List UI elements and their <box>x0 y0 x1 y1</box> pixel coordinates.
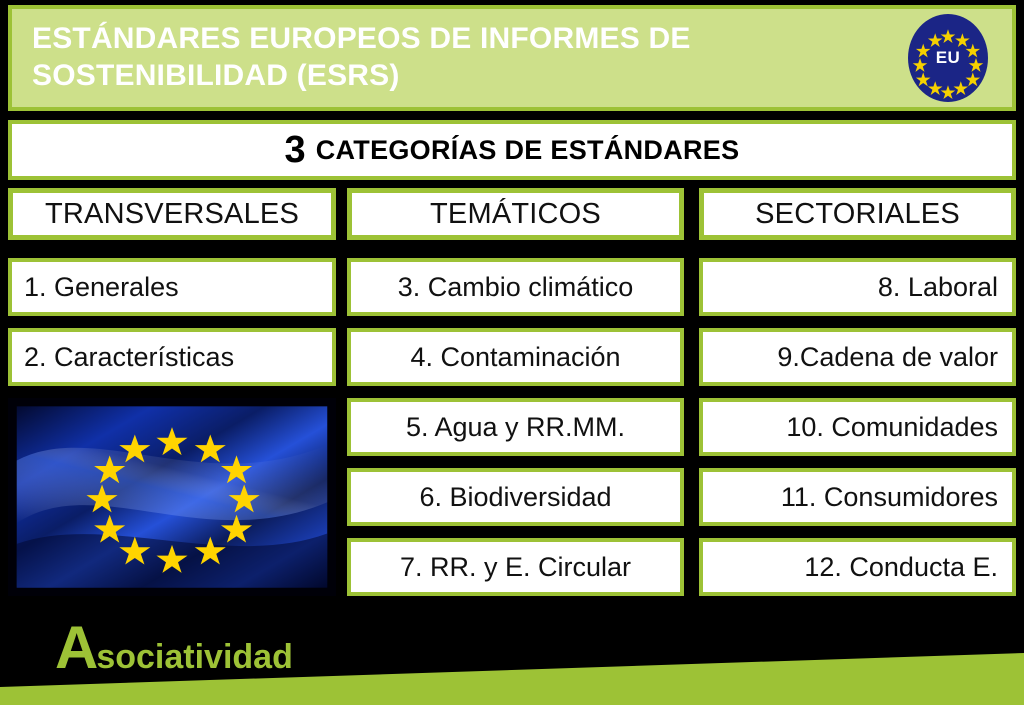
header-banner: ESTÁNDARES EUROPEOS DE INFORMES DE SOSTE… <box>8 5 1016 111</box>
standard-item-label: 7. RR. y E. Circular <box>400 552 631 583</box>
standard-item[interactable]: 3. Cambio climático <box>347 258 684 316</box>
standard-item-label: 5. Agua y RR.MM. <box>406 412 625 443</box>
column-transversales: TRANSVERSALES 1. Generales 2. Caracterís… <box>8 188 336 596</box>
column-sectoriales: SECTORIALES 8. Laboral 9.Cadena de valor… <box>699 188 1016 608</box>
page-title: ESTÁNDARES EUROPEOS DE INFORMES DE SOSTE… <box>12 21 908 94</box>
eu-emblem-badge: EU <box>908 14 988 102</box>
standard-item[interactable]: 12. Conducta E. <box>699 538 1016 596</box>
standard-item-label: 12. Conducta E. <box>804 552 1012 583</box>
eu-flag-image <box>8 398 336 596</box>
column-tematicos: TEMÁTICOS 3. Cambio climático 4. Contami… <box>347 188 684 608</box>
column-header-tematicos: TEMÁTICOS <box>347 188 684 240</box>
standard-item[interactable]: 4. Contaminación <box>347 328 684 386</box>
column-header-label: TRANSVERSALES <box>45 198 299 231</box>
standard-item-label: 8. Laboral <box>878 272 1012 303</box>
categories-columns: TRANSVERSALES 1. Generales 2. Caracterís… <box>0 188 1024 608</box>
column-header-label: SECTORIALES <box>755 198 960 231</box>
standard-item[interactable]: 8. Laboral <box>699 258 1016 316</box>
brand-logo-text: sociatividad <box>96 638 293 677</box>
standard-item-label: 11. Consumidores <box>781 482 1012 513</box>
column-header-label: TEMÁTICOS <box>430 198 601 231</box>
column-header-sectoriales: SECTORIALES <box>699 188 1016 240</box>
standard-item-label: 10. Comunidades <box>786 412 1012 443</box>
slide-root: ESTÁNDARES EUROPEOS DE INFORMES DE SOSTE… <box>0 0 1024 705</box>
standard-item-label: 6. Biodiversidad <box>419 482 611 513</box>
standard-item[interactable]: 9.Cadena de valor <box>699 328 1016 386</box>
standard-item-label: 1. Generales <box>12 272 179 303</box>
eu-badge-label: EU <box>936 48 961 68</box>
standard-item[interactable]: 5. Agua y RR.MM. <box>347 398 684 456</box>
brand-logo: A sociatividad <box>55 622 293 677</box>
standard-item[interactable]: 7. RR. y E. Circular <box>347 538 684 596</box>
categories-count: 3 <box>285 131 306 169</box>
standard-item-label: 9.Cadena de valor <box>777 342 1012 373</box>
standard-item-label: 2. Características <box>12 342 234 373</box>
brand-logo-initial: A <box>55 622 98 673</box>
standard-item-label: 3. Cambio climático <box>398 272 634 303</box>
standard-item[interactable]: 2. Características <box>8 328 336 386</box>
column-header-transversales: TRANSVERSALES <box>8 188 336 240</box>
standard-item[interactable]: 6. Biodiversidad <box>347 468 684 526</box>
categories-label: CATEGORÍAS DE ESTÁNDARES <box>316 135 740 166</box>
standard-item-label: 4. Contaminación <box>410 342 620 373</box>
standard-item[interactable]: 1. Generales <box>8 258 336 316</box>
standard-item[interactable]: 10. Comunidades <box>699 398 1016 456</box>
standard-item[interactable]: 11. Consumidores <box>699 468 1016 526</box>
categories-subtitle-box: 3 CATEGORÍAS DE ESTÁNDARES <box>8 120 1016 180</box>
